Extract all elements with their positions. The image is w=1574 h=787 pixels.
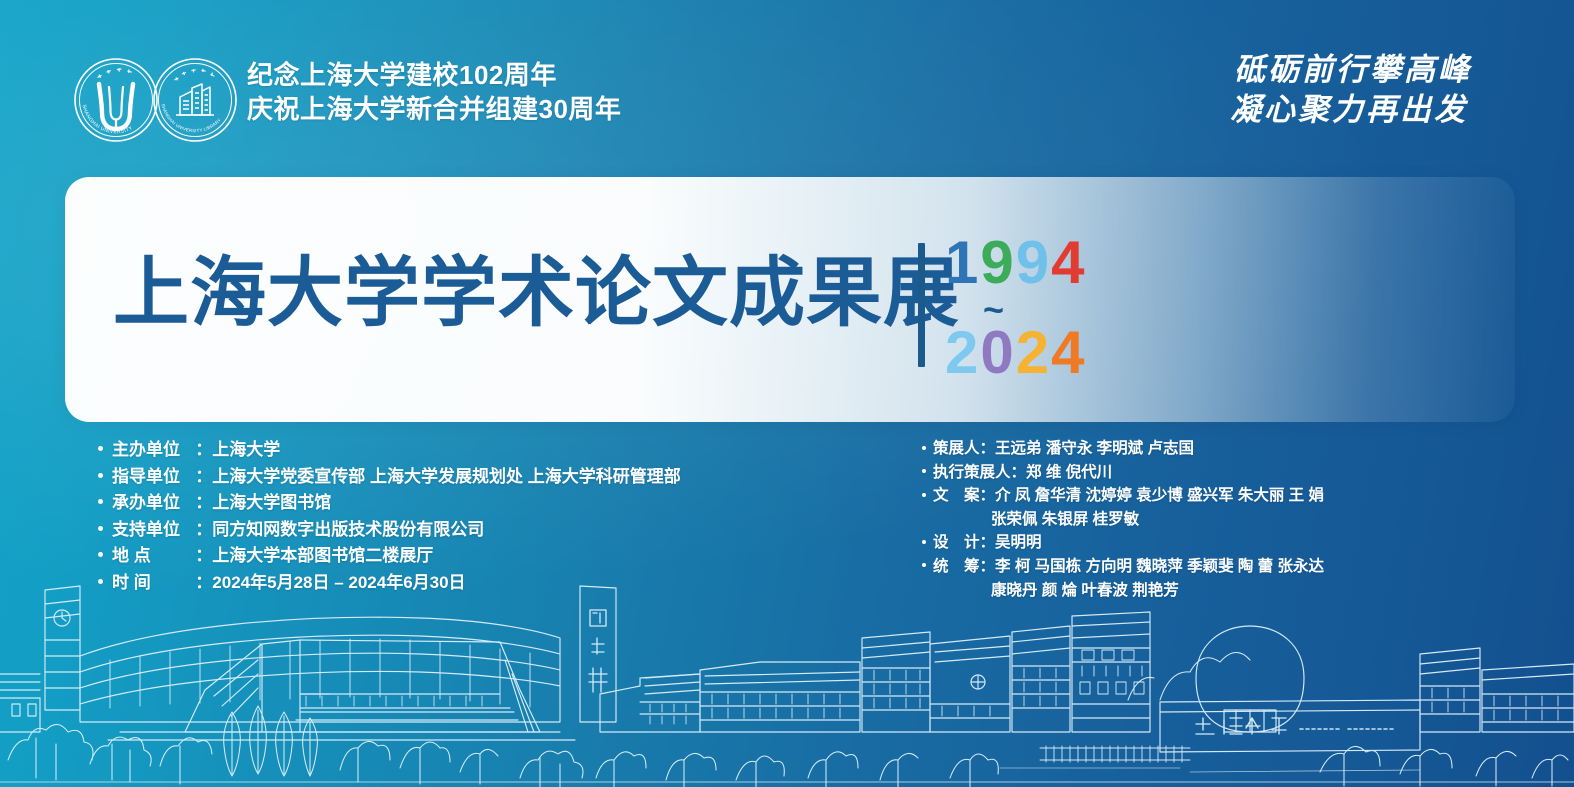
info-item-value-continued: 康晓丹 颜 㷍 叶春波 荆艳芳 bbox=[933, 579, 1324, 603]
info-item: 统 筹：李 柯 马国栋 方向明 魏晓萍 季颖斐 陶 蕾 张永达康晓丹 颜 㷍 叶… bbox=[922, 555, 1324, 602]
bullet-icon bbox=[98, 446, 103, 451]
page-title: 上海大学学术论文成果展 bbox=[113, 248, 960, 340]
info-item-colon: ： bbox=[1011, 464, 1027, 481]
info-item-value: 郑 维 倪代川 bbox=[1026, 464, 1112, 481]
info-item-value: 王远弟 潘守永 李明斌 卢志国 bbox=[995, 440, 1194, 457]
info-item: 策展人：王远弟 潘守永 李明斌 卢志国 bbox=[922, 437, 1324, 461]
info-left-column: 主办单位：上海大学指导单位：上海大学党委宣传部 上海大学发展规划处 上海大学科研… bbox=[98, 437, 681, 596]
info-item-body: 设 计：吴明明 bbox=[933, 531, 1042, 555]
info-item-label: 主办单位 bbox=[112, 437, 195, 464]
year-digit: 9 bbox=[1016, 229, 1051, 296]
info-item-label: 策展人 bbox=[933, 437, 980, 461]
year-digit: 2 bbox=[945, 319, 980, 386]
anniversary-line-2: 庆祝上海大学新合并组建30周年 bbox=[247, 92, 621, 126]
bullet-icon bbox=[98, 526, 103, 531]
info-item-body: 地 点：上海大学本部图书馆二楼展厅 bbox=[112, 543, 433, 570]
info-item-label: 承办单位 bbox=[112, 490, 195, 517]
info-item: 承办单位：上海大学图书馆 bbox=[98, 490, 681, 517]
info-item-label: 统 筹 bbox=[933, 555, 980, 579]
info-item-value: 上海大学党委宣传部 上海大学发展规划处 上海大学科研管理部 bbox=[212, 467, 680, 486]
info-item-body: 策展人：王远弟 潘守永 李明斌 卢志国 bbox=[933, 437, 1194, 461]
info-item-colon: ： bbox=[980, 440, 996, 457]
info-item-value: 上海大学图书馆 bbox=[212, 493, 331, 512]
info-item-body: 支持单位：同方知网数字出版技术股份有限公司 bbox=[112, 517, 484, 544]
info-item-body: 统 筹：李 柯 马国栋 方向明 魏晓萍 季颖斐 陶 蕾 张永达康晓丹 颜 㷍 叶… bbox=[933, 555, 1324, 602]
year-digit: 2 bbox=[1016, 319, 1051, 386]
info-item-body: 执行策展人：郑 维 倪代川 bbox=[933, 461, 1112, 485]
slogan-line-2: 凝心聚力再出发 bbox=[1152, 90, 1472, 130]
info-item-colon: ： bbox=[195, 573, 212, 592]
bullet-icon bbox=[922, 493, 926, 497]
year-digit: 4 bbox=[1051, 229, 1086, 296]
year-digit: 9 bbox=[980, 229, 1015, 296]
info-item-label: 支持单位 bbox=[112, 517, 195, 544]
year-start: 1994 bbox=[945, 233, 1165, 293]
info-item-colon: ： bbox=[980, 534, 996, 551]
year-end: 2024 bbox=[945, 323, 1165, 383]
year-digit: 0 bbox=[980, 319, 1015, 386]
year-digit: 4 bbox=[1051, 319, 1086, 386]
info-item: 时 间：2024年5月28日 – 2024年6月30日 bbox=[98, 570, 681, 597]
info-item: 主办单位：上海大学 bbox=[98, 437, 681, 464]
slogan-line-1: 砥砺前行攀高峰 bbox=[1152, 50, 1472, 90]
info-item-body: 主办单位：上海大学 bbox=[112, 437, 280, 464]
info-item: 文 案：介 凤 詹华清 沈婷婷 袁少博 盛兴军 朱大丽 王 娟张荣佩 朱银屏 桂… bbox=[922, 484, 1324, 531]
shanghai-university-logo: SHANGHAI UNIVERSITY bbox=[73, 57, 159, 143]
bullet-icon bbox=[922, 446, 926, 450]
info-item-label: 设 计 bbox=[933, 531, 980, 555]
info-item: 地 点：上海大学本部图书馆二楼展厅 bbox=[98, 543, 681, 570]
info-item: 指导单位：上海大学党委宣传部 上海大学发展规划处 上海大学科研管理部 bbox=[98, 464, 681, 491]
info-item-colon: ： bbox=[195, 440, 212, 459]
info-item: 设 计：吴明明 bbox=[922, 531, 1324, 555]
poster-header: SHANGHAI UNIVERSITY bbox=[0, 0, 1574, 175]
bullet-icon bbox=[98, 579, 103, 584]
info-item-colon: ： bbox=[195, 546, 212, 565]
info-item-body: 承办单位：上海大学图书馆 bbox=[112, 490, 331, 517]
info-item-body: 时 间：2024年5月28日 – 2024年6月30日 bbox=[112, 570, 466, 597]
info-item-label: 执行策展人 bbox=[933, 461, 1011, 485]
shanghai-university-library-logo: SHANGHAI UNIVERSITY LIBRARY bbox=[152, 57, 238, 143]
bullet-icon bbox=[98, 552, 103, 557]
info-item-colon: ： bbox=[195, 467, 212, 486]
info-item-colon: ： bbox=[195, 520, 212, 539]
bullet-icon bbox=[922, 540, 926, 544]
info-item: 执行策展人：郑 维 倪代川 bbox=[922, 461, 1324, 485]
slogan-calligraphy: 砥砺前行攀高峰 凝心聚力再出发 bbox=[1152, 50, 1472, 130]
svg-text:SHANGHAI UNIVERSITY LIBRARY: SHANGHAI UNIVERSITY LIBRARY bbox=[160, 103, 222, 133]
info-item-colon: ： bbox=[195, 493, 212, 512]
info-item-colon: ： bbox=[980, 558, 996, 575]
year-divider-rule bbox=[918, 243, 925, 367]
info-item-body: 指导单位：上海大学党委宣传部 上海大学发展规划处 上海大学科研管理部 bbox=[112, 464, 681, 491]
bullet-icon bbox=[98, 499, 103, 504]
info-item-value: 介 凤 詹华清 沈婷婷 袁少博 盛兴军 朱大丽 王 娟 bbox=[995, 487, 1324, 504]
info-item-value-continued: 张荣佩 朱银屏 桂罗敏 bbox=[933, 508, 1324, 532]
poster-root: SHANGHAI UNIVERSITY bbox=[0, 0, 1574, 787]
info-item-value: 上海大学 bbox=[212, 440, 280, 459]
info-item-label: 指导单位 bbox=[112, 464, 195, 491]
info-item: 支持单位：同方知网数字出版技术股份有限公司 bbox=[98, 517, 681, 544]
info-item-value: 吴明明 bbox=[995, 534, 1042, 551]
anniversary-line-1: 纪念上海大学建校102周年 bbox=[247, 58, 621, 92]
info-right-column: 策展人：王远弟 潘守永 李明斌 卢志国执行策展人：郑 维 倪代川文 案：介 凤 … bbox=[922, 437, 1324, 602]
bullet-icon bbox=[98, 473, 103, 478]
info-item-body: 文 案：介 凤 詹华清 沈婷婷 袁少博 盛兴军 朱大丽 王 娟张荣佩 朱银屏 桂… bbox=[933, 484, 1324, 531]
year-digit: 1 bbox=[945, 229, 980, 296]
info-item-value: 同方知网数字出版技术股份有限公司 bbox=[212, 520, 484, 539]
anniversary-text: 纪念上海大学建校102周年 庆祝上海大学新合并组建30周年 bbox=[247, 58, 621, 126]
info-item-label: 地 点 bbox=[112, 543, 195, 570]
info-item-value: 上海大学本部图书馆二楼展厅 bbox=[212, 546, 433, 565]
campus-skyline-line-art bbox=[0, 582, 1574, 787]
bullet-icon bbox=[922, 563, 926, 567]
bullet-icon bbox=[922, 469, 926, 473]
info-item-value: 2024年5月28日 – 2024年6月30日 bbox=[212, 573, 465, 592]
info-item-label: 时 间 bbox=[112, 570, 195, 597]
year-range: 1994 ~ 2024 bbox=[945, 233, 1165, 383]
info-item-label: 文 案 bbox=[933, 484, 980, 508]
info-item-value: 李 柯 马国栋 方向明 魏晓萍 季颖斐 陶 蕾 张永达 bbox=[995, 558, 1324, 575]
info-item-colon: ： bbox=[980, 487, 996, 504]
